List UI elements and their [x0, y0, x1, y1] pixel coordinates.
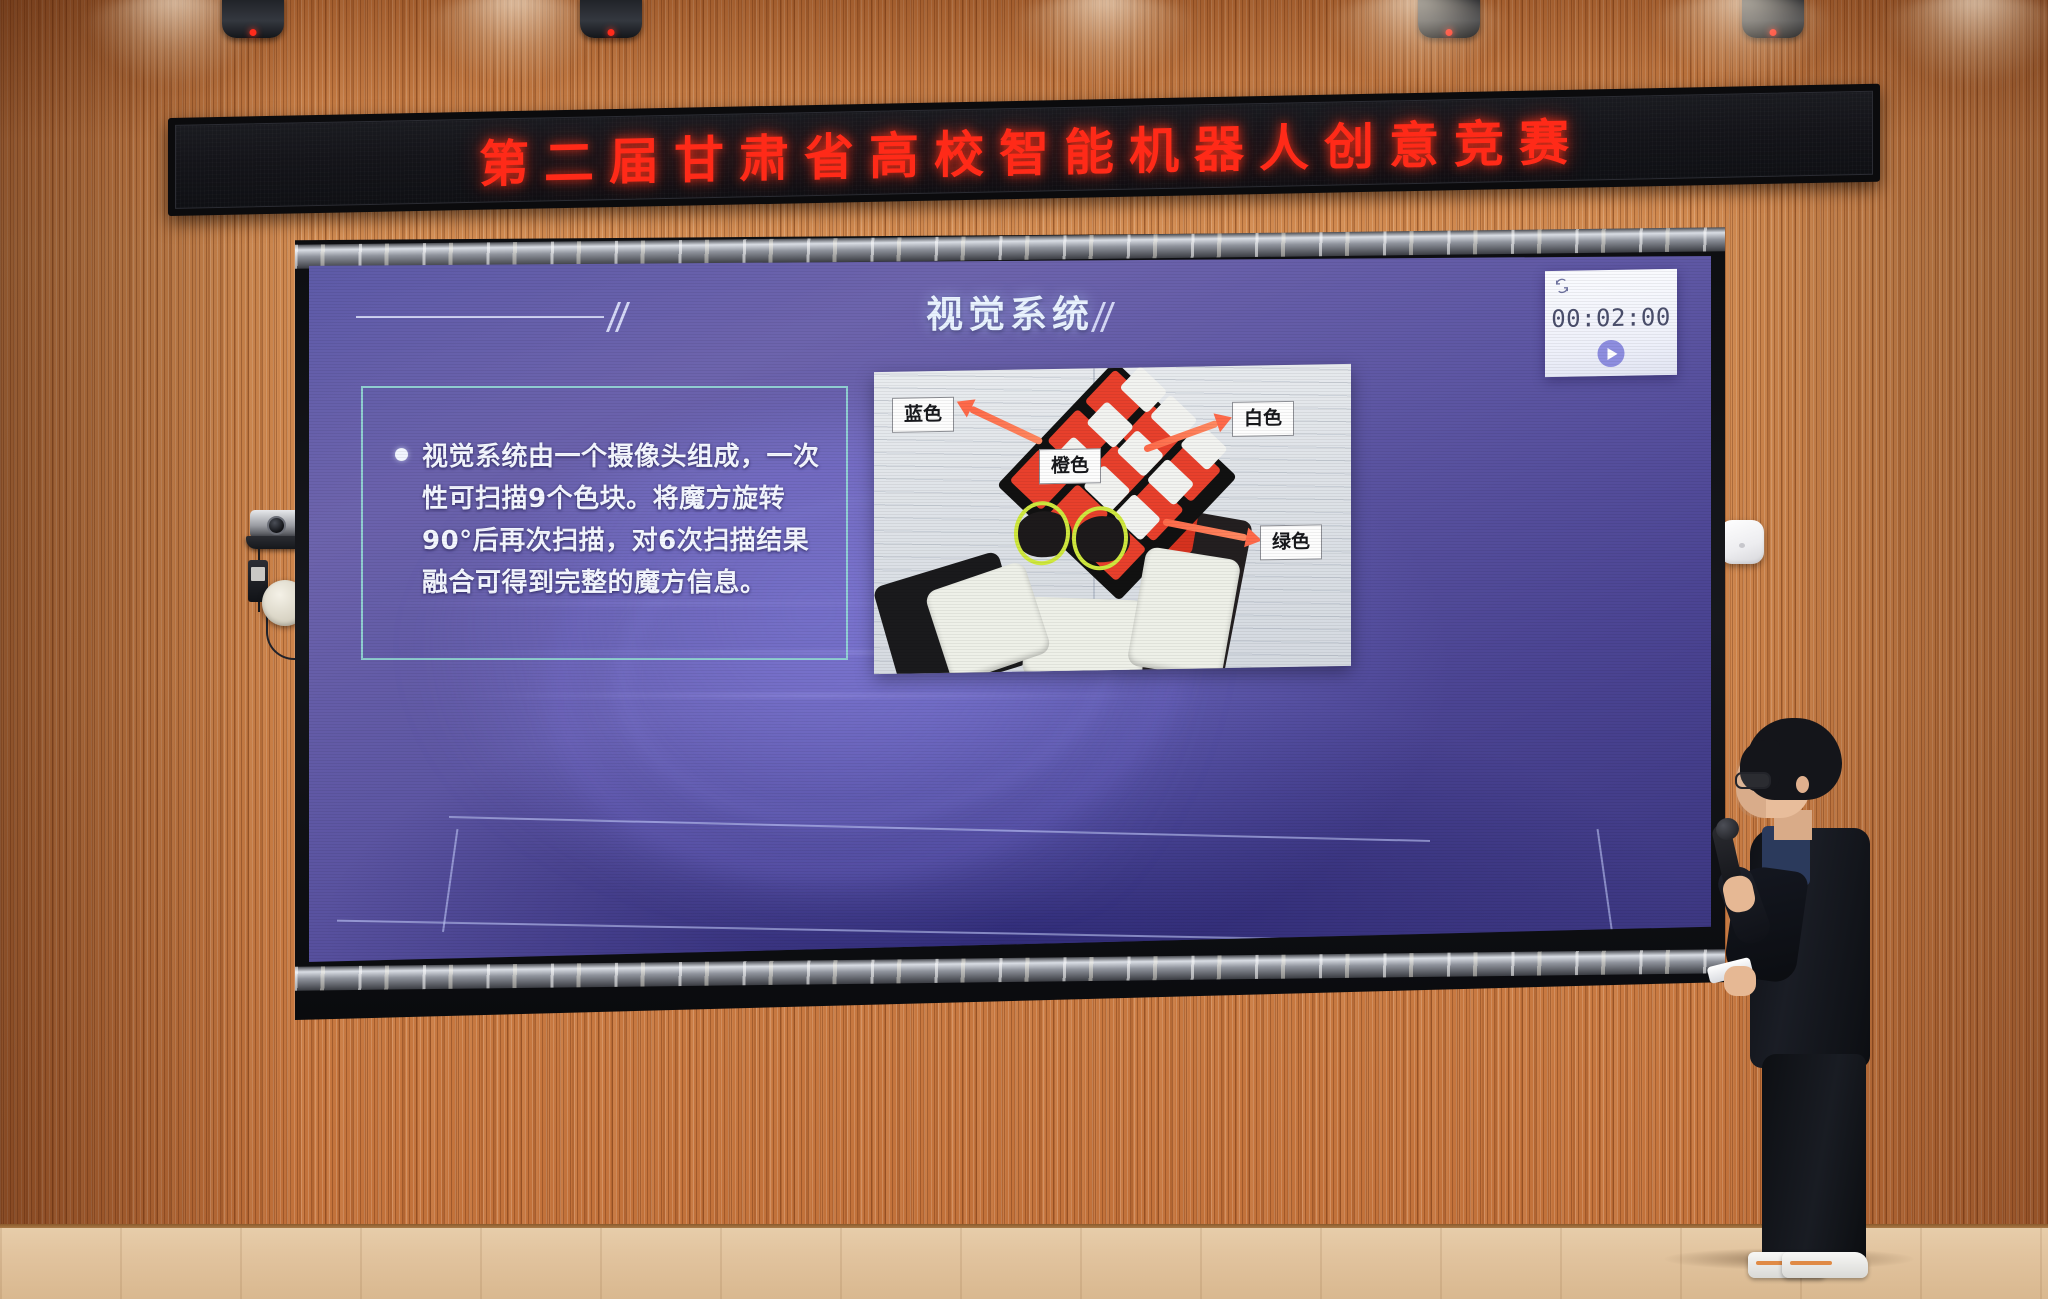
- slide-bg-streak: [449, 694, 1178, 697]
- led-display-wall: 视觉系统 视觉系统由一个摄像头组成，一次性可扫描9个色块。将魔方旋转90°后再次…: [295, 230, 1725, 1020]
- light-indicator-dot: [1446, 29, 1453, 36]
- ceiling-light: [580, 0, 642, 38]
- wall-sensor-icon: [1720, 520, 1764, 564]
- callout-label-white: 白色: [1232, 401, 1294, 437]
- presenter-person: [1688, 718, 1878, 1278]
- presenter-legs: [1762, 1054, 1866, 1268]
- callout-label-blue: 蓝色: [892, 397, 954, 433]
- ceiling-light: [1418, 0, 1480, 38]
- presenter-shoe: [1782, 1252, 1868, 1278]
- bullet-text: 视觉系统由一个摄像头组成，一次性可扫描9个色块。将魔方旋转90°后再次扫描，对6…: [422, 436, 830, 604]
- loop-icon: [1554, 278, 1570, 294]
- glasses-icon: [1735, 772, 1771, 789]
- bullet-dot-icon: [395, 448, 408, 461]
- perspective-line: [442, 829, 458, 932]
- ceiling-light: [222, 0, 284, 38]
- callout-label-orange: 橙色: [1039, 448, 1101, 484]
- perspective-line: [1596, 829, 1612, 932]
- light-indicator-dot: [1770, 29, 1777, 36]
- light-indicator-dot: [608, 29, 615, 36]
- shoe-stripe: [1790, 1261, 1832, 1265]
- presenter-hand-clicker: [1724, 966, 1756, 996]
- ceiling-light: [1742, 0, 1804, 38]
- slide-text-card: 视觉系统由一个摄像头组成，一次性可扫描9个色块。将魔方旋转90°后再次扫描，对6…: [361, 386, 848, 660]
- callout-label-green: 绿色: [1260, 524, 1322, 560]
- presenter-ear: [1796, 776, 1809, 793]
- adapter-label: [251, 567, 265, 581]
- lens-highlight-circle: [1014, 501, 1070, 566]
- timer-value: 00:02:00: [1545, 303, 1677, 333]
- camera-lens: [267, 516, 286, 535]
- perspective-line: [449, 816, 1430, 842]
- presentation-slide: 视觉系统 视觉系统由一个摄像头组成，一次性可扫描9个色块。将魔方旋转90°后再次…: [309, 256, 1711, 962]
- robot-gripper-right: [1126, 546, 1241, 674]
- countdown-timer-widget[interactable]: 00:02:00: [1545, 269, 1677, 377]
- banner-title-text: 第二届甘肃省高校智能机器人创意竞赛: [464, 103, 1584, 197]
- timer-play-button[interactable]: [1598, 340, 1625, 367]
- robot-photo: 蓝色 橙色 白色 绿色: [874, 364, 1351, 674]
- page-title: 视觉系统: [309, 284, 1711, 338]
- bullet-item: 视觉系统由一个摄像头组成，一次性可扫描9个色块。将魔方旋转90°后再次扫描，对6…: [395, 436, 830, 604]
- light-indicator-dot: [250, 29, 257, 36]
- slide-title-row: 视觉系统: [309, 284, 1711, 346]
- auditorium-scene: 第二届甘肃省高校智能机器人创意竞赛 视觉系统: [0, 0, 2048, 1299]
